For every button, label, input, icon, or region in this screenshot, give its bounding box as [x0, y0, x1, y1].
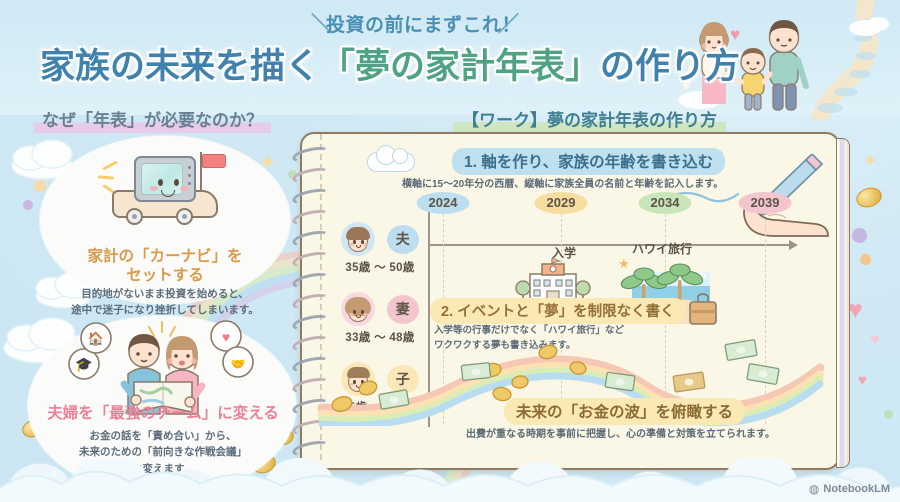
dot-decoration [860, 254, 871, 265]
step-3-title: 未来の「お金の波」を俯瞰する [504, 398, 745, 425]
page-title: 家族の未来を描く「夢の家計年表」の作り方 [40, 38, 720, 89]
heart-icon [848, 296, 863, 325]
notebook-page-edges [836, 138, 850, 468]
notebooklm-logo-icon: ◍ [809, 482, 819, 496]
year-marker-2024: 2024 [417, 192, 470, 214]
decorative-slash-right: ／ [498, 8, 519, 38]
svg-text:♥: ♥ [730, 25, 740, 44]
family-role-label: 夫 [387, 225, 419, 254]
year-marker-2039: 2039 [739, 192, 792, 214]
page-title-part3: の作り方 [600, 47, 740, 86]
family-row-father: 夫 35歳 〜 50歳 [334, 222, 426, 275]
heart-icon: ♥ [222, 329, 230, 345]
mother-avatar-icon [341, 292, 375, 326]
heart-icon [870, 330, 880, 350]
page-title-part1: 家族の未来を描く [40, 47, 320, 86]
cloud-icon [367, 152, 415, 172]
kicker-text: 投資の前にまずこれ！ [326, 10, 521, 37]
watermark-label: NotebookLM [823, 483, 890, 495]
timeline-horizontal-axis [428, 244, 796, 246]
family-age-range: 35歳 〜 50歳 [334, 259, 426, 275]
father-avatar-icon [341, 222, 375, 256]
dot-decoration [852, 228, 867, 243]
handshake-icon: 🤝 [231, 357, 246, 371]
year-marker-2034: 2034 [639, 192, 692, 214]
sparkle-icon: ★ [618, 258, 630, 271]
dot-decoration [34, 180, 46, 192]
year-marker-2029: 2029 [535, 192, 588, 214]
sparkle-icon: ✦ [862, 152, 878, 171]
dot-decoration [23, 200, 33, 210]
left-card-1-title: 家計の「カーナビ」を セットする [50, 248, 280, 286]
house-icon: 🏠 [88, 331, 104, 346]
left-card-1-body: 目的地がないまま投資を始めると、 途中で迷子になり挫折してしまいます。 [50, 286, 280, 319]
step-2-title: 2. イベントと「夢」を制限なく書く [430, 298, 686, 324]
page-title-part2: 「夢の家計年表」 [320, 47, 600, 86]
watermark: ◍ NotebookLM [809, 482, 890, 496]
graduation-cap-icon: 🎓 [75, 356, 92, 373]
infographic-canvas: ♥ ♥ ✦ ✦ ✦ ＼ 投資の前にまずこれ！ ／ 家族の未来を描く「夢の家計年表… [0, 0, 900, 502]
dot-decoration [884, 410, 893, 419]
right-section-label: 【ワーク】夢の家計年表の作り方 [453, 105, 726, 133]
notebook-panel: 1. 軸を作り、家族の年齢を書き込む 横軸に15〜20年分の西暦、縦軸に家族全員… [300, 132, 840, 470]
heart-icon [858, 372, 867, 389]
family-role-label: 妻 [387, 295, 419, 324]
left-card-1-title-line2: セットする [50, 267, 280, 286]
left-card-2-title: 夫婦を「最強のチーム」に変える [38, 405, 288, 424]
bottom-cloud-outline [0, 442, 900, 502]
step-1-title: 1. 軸を作り、家族の年齢を書き込む [452, 148, 725, 175]
step-3-subtitle: 出費が重なる時期を事前に把握し、心の準備と対策を立てられます。 [466, 425, 775, 440]
left-card-1-title-line1: 家計の「カーナビ」を [50, 248, 280, 267]
event-label-hawaii-trip: ハワイ旅行 [632, 240, 692, 257]
left-card-1-body-line1: 目的地がないまま投資を始めると、 [50, 286, 280, 302]
car-navigation-mascot-icon [104, 146, 224, 232]
left-section-label: なぜ「年表」が必要なのか？ [34, 105, 271, 133]
